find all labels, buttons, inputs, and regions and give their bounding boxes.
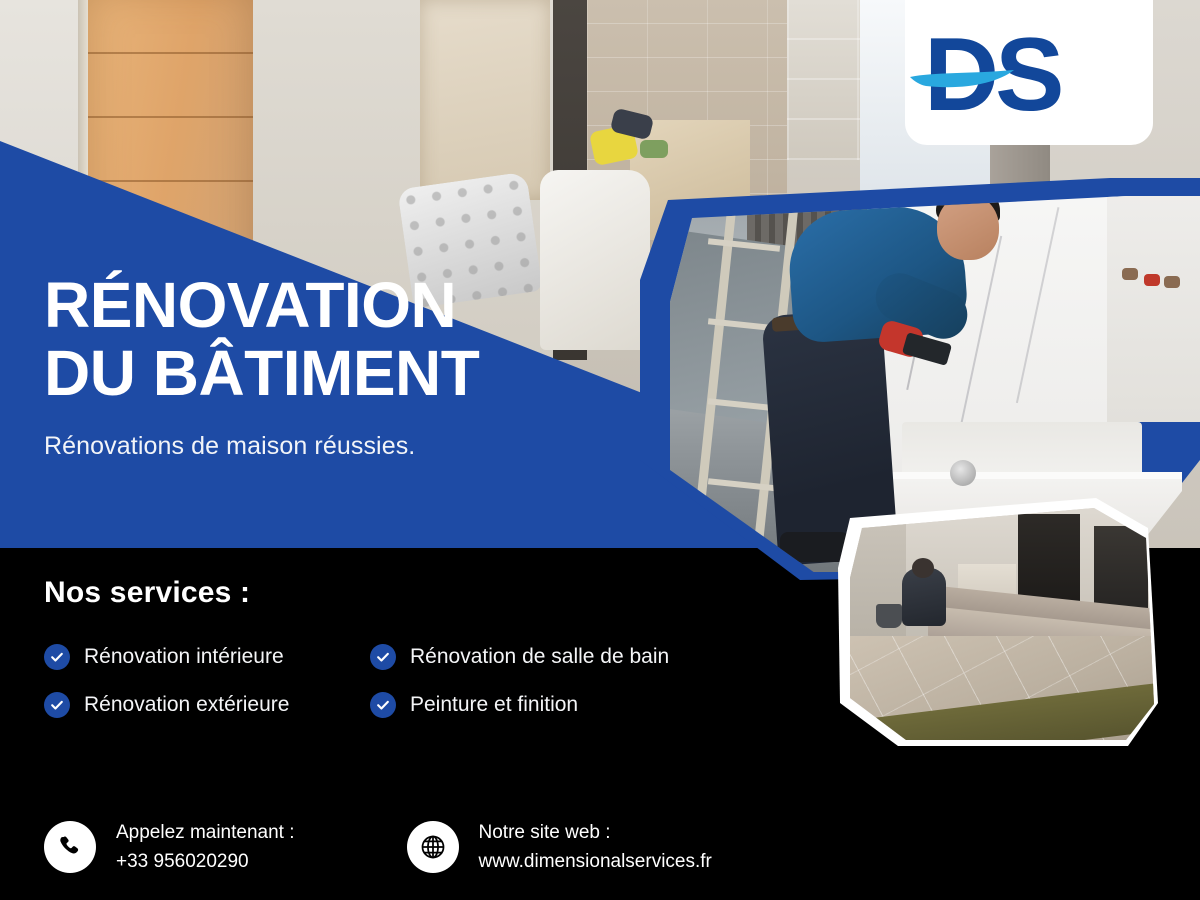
- service-item-renovation-interieure: Rénovation intérieure: [44, 644, 334, 670]
- brand-logo-box[interactable]: DS: [905, 0, 1153, 145]
- contact-phone[interactable]: Appelez maintenant : +33 956020290: [44, 818, 295, 877]
- service-label: Peinture et finition: [410, 693, 578, 717]
- phone-icon: [44, 821, 96, 873]
- service-item-renovation-exterieure: Rénovation extérieure: [44, 692, 334, 718]
- check-circle-icon: [44, 644, 70, 670]
- contact-website-value: www.dimensionalservices.fr: [479, 847, 712, 876]
- title-line-1: RÉNOVATION: [44, 269, 456, 341]
- wave-swoosh-icon: [910, 70, 1014, 92]
- hero-headline: RÉNOVATION DU BÂTIMENT Rénovations de ma…: [44, 272, 724, 461]
- page-title: RÉNOVATION DU BÂTIMENT: [44, 272, 724, 408]
- contact-phone-value: +33 956020290: [116, 847, 295, 876]
- globe-icon: [407, 821, 459, 873]
- service-label: Rénovation intérieure: [84, 645, 284, 669]
- check-circle-icon: [44, 692, 70, 718]
- service-label: Rénovation de salle de bain: [410, 645, 669, 669]
- contact-website-label: Notre site web :: [479, 818, 712, 847]
- hero-subtitle: Rénovations de maison réussies.: [44, 432, 724, 461]
- services-grid: Rénovation intérieure Rénovation de sall…: [44, 644, 669, 718]
- contact-footer: Appelez maintenant : +33 956020290: [44, 818, 712, 877]
- renovation-poster: DS RÉNOVATION DU BÂTIMENT Rénovations de…: [0, 0, 1200, 900]
- contact-phone-label: Appelez maintenant :: [116, 818, 295, 847]
- check-circle-icon: [370, 692, 396, 718]
- service-item-peinture-et-finition: Peinture et finition: [370, 692, 669, 718]
- contact-website[interactable]: Notre site web : www.dimensionalservices…: [407, 818, 712, 877]
- service-item-renovation-salle-de-bain: Rénovation de salle de bain: [370, 644, 669, 670]
- services-heading: Nos services :: [44, 576, 669, 610]
- secondary-photo-worker-tiling-steps: [846, 506, 1160, 740]
- check-circle-icon: [370, 644, 396, 670]
- title-line-2: DU BÂTIMENT: [44, 337, 479, 409]
- secondary-photo-card: [828, 488, 1178, 758]
- services-section: Nos services : Rénovation intérieure Rén…: [44, 576, 669, 718]
- service-label: Rénovation extérieure: [84, 693, 289, 717]
